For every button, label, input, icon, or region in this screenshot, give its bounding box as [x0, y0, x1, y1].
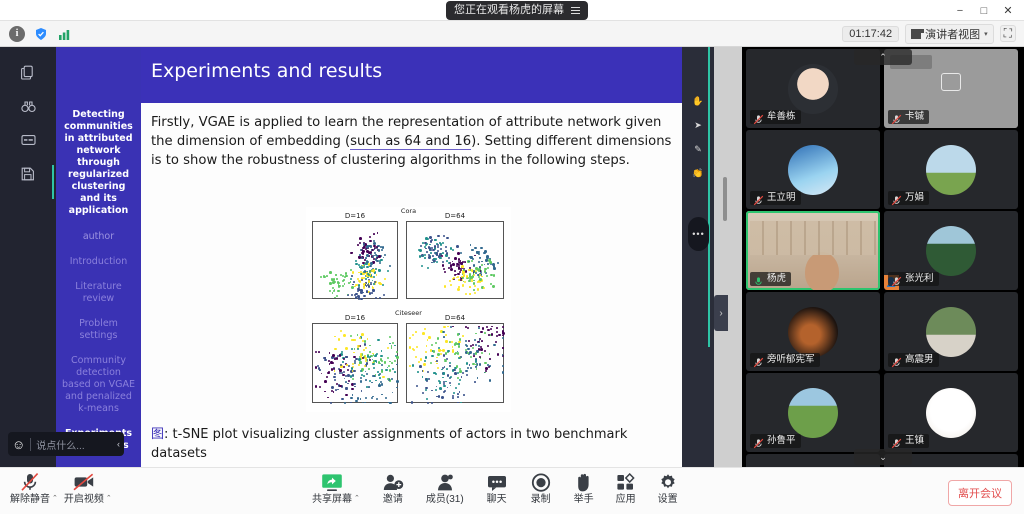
slide-body-underlined: such as 64 and 16: [350, 134, 471, 150]
apps-icon: [616, 473, 636, 492]
bottom-left-controls: 解除静音 ⌃ 开启视频 ⌃: [10, 473, 112, 505]
avatar: [926, 226, 976, 276]
slide-nav-item-literature-review[interactable]: Literature review: [56, 281, 141, 305]
info-icon[interactable]: i: [9, 26, 25, 42]
start-video-button[interactable]: 开启视频: [64, 473, 104, 505]
network-stats-icon[interactable]: [57, 26, 73, 42]
chevron-left-icon[interactable]: ‹: [117, 439, 120, 449]
strip-accent-line: [708, 47, 710, 347]
nameplate: 孙鲁平: [750, 434, 801, 448]
mic-muted-icon: [753, 112, 764, 123]
shared-screen-icon: [941, 73, 961, 91]
record-button[interactable]: 录制: [530, 473, 552, 505]
video-feed: [805, 252, 839, 290]
leave-meeting-button[interactable]: 离开会议: [948, 480, 1012, 506]
avatar: [788, 145, 838, 195]
invite-label: 邀请: [383, 494, 403, 505]
participant-name: 牟善栋: [767, 110, 796, 124]
reaction-strip: ✋ ➤ ✎ 👏 ••• ✋: [682, 47, 714, 467]
avatar: [788, 388, 838, 438]
mic-muted-icon: [891, 436, 902, 447]
video-options-caret[interactable]: ⌃: [106, 494, 112, 505]
unmute-button[interactable]: 解除静音: [10, 473, 50, 505]
audio-options-caret[interactable]: ⌃: [52, 494, 58, 505]
invite-button[interactable]: 邀请: [382, 473, 404, 505]
tsne-figure-canvas: CoraCiteseerD=16D=64D=16D=64: [306, 207, 511, 412]
avatar: [788, 64, 838, 114]
panel-label: D=64: [406, 314, 504, 322]
more-icon[interactable]: •••: [688, 217, 709, 251]
mic-muted-icon: [19, 473, 41, 492]
chat-input-bar[interactable]: ☺ 说点什么... ‹: [8, 432, 124, 456]
caption-text: : t-SNE plot visualizing cluster assignm…: [151, 427, 627, 461]
scrollbar-thumb[interactable]: [723, 177, 727, 221]
nameplate: 王镇: [888, 434, 929, 448]
chat-label: 聊天: [487, 494, 507, 505]
video-muted-icon: [72, 473, 96, 492]
panel-label: D=16: [312, 212, 398, 220]
rail-active-indicator: [52, 165, 54, 199]
participant-name: 王镇: [905, 434, 924, 448]
scatter-panel: [406, 323, 504, 403]
share-screen-button[interactable]: 共享屏幕: [312, 473, 352, 505]
participant-name: 卡铖: [905, 110, 924, 124]
panel-label: D=16: [312, 314, 398, 322]
save-icon[interactable]: [0, 157, 56, 191]
participant-tile[interactable]: 孙鲁平: [746, 373, 880, 452]
participant-name: 旁听郁宪军: [767, 353, 815, 367]
participant-name: 孙鲁平: [767, 434, 796, 448]
scatter-panel: [406, 221, 504, 299]
binoculars-icon[interactable]: [0, 89, 56, 123]
tsne-figure: CoraCiteseerD=16D=64D=16D=64: [306, 207, 511, 412]
hamburger-icon[interactable]: [571, 7, 580, 14]
divider: [30, 438, 31, 451]
annotation-rail: [0, 47, 56, 467]
participant-tile[interactable]: 万娟: [884, 130, 1018, 209]
mic-muted-icon: [753, 436, 764, 447]
participant-tile[interactable]: 高震男: [884, 292, 1018, 371]
participant-tile[interactable]: 王镇: [884, 373, 1018, 452]
video-background: [750, 221, 876, 255]
nameplate: 王立明: [750, 191, 801, 205]
gear-icon: [658, 473, 678, 492]
share-options-caret[interactable]: ⌃: [354, 494, 360, 505]
window-controls: − □ ✕: [948, 0, 1020, 21]
mic-muted-icon: [891, 112, 902, 123]
participant-name: 王立明: [767, 191, 796, 205]
meeting-controls-bar: 解除静音 ⌃ 开启视频 ⌃: [0, 467, 1024, 514]
fullscreen-icon[interactable]: ⛶: [1000, 25, 1016, 42]
stage-scroll-gutter: [714, 47, 742, 467]
nameplate: 万娟: [888, 191, 929, 205]
participant-name: 高震男: [905, 353, 934, 367]
slide-nav-author: author: [56, 231, 141, 243]
start-video-label: 开启视频: [64, 494, 104, 505]
copy-icon[interactable]: [0, 55, 56, 89]
slide-nav: Detecting communities in attributed netw…: [56, 109, 141, 452]
invite-icon: [382, 473, 404, 492]
share-screen-label: 共享屏幕: [312, 494, 352, 505]
meeting-timer: 01:17:42: [842, 26, 899, 42]
participant-tile[interactable]: 旁听郁宪军: [746, 292, 880, 371]
panel-label: D=64: [406, 212, 504, 220]
participant-tile[interactable]: 👤张光利: [884, 211, 1018, 290]
unmute-label: 解除静音: [10, 494, 50, 505]
chat-icon: [486, 473, 508, 492]
nameplate: 牟善栋: [750, 110, 801, 124]
participant-tile[interactable]: 王立明: [746, 130, 880, 209]
slide-nav-item-problem-settings[interactable]: Problem settings: [56, 318, 141, 342]
apps-button[interactable]: 应用: [616, 473, 636, 505]
mic-on-icon: [753, 274, 764, 285]
maximize-button[interactable]: □: [972, 0, 996, 21]
participant-name: 万娟: [905, 191, 924, 205]
minimize-button[interactable]: −: [948, 0, 972, 21]
slide-body-text: Firstly, VGAE is applied to learn the re…: [151, 113, 674, 170]
share-notice-text: 您正在观看杨虎的屏幕: [454, 1, 564, 20]
start-video-group: 开启视频 ⌃: [64, 473, 112, 505]
participants-label: 成员(31): [426, 494, 464, 505]
participant-name: 张光利: [905, 272, 934, 286]
unmute-group: 解除静音 ⌃: [10, 473, 58, 505]
smiley-icon[interactable]: ☺: [12, 437, 25, 452]
slide-title-bar: Experiments and results: [141, 47, 682, 103]
nameplate: 卡铖: [888, 110, 929, 124]
participant-tile[interactable]: 杨虎: [746, 211, 880, 290]
scatter-panel: [312, 323, 398, 403]
chevron-down-icon[interactable]: ▾: [984, 30, 988, 38]
record-icon: [530, 473, 552, 492]
settings-button[interactable]: 设置: [658, 473, 678, 505]
toolbar-left-icons: i: [0, 26, 73, 42]
slide-nav-item-community-detection[interactable]: Community detection based on VGAE and pe…: [56, 355, 141, 415]
participant-grid: 牟善栋卡铖王立明万娟杨虎👤张光利旁听郁宪军高震男孙鲁平王镇⌃⌄: [742, 47, 1024, 467]
nameplate: 高震男: [888, 353, 939, 367]
view-mode-label: 演讲者视图: [925, 26, 980, 42]
raise-hand-button[interactable]: 举手: [574, 473, 594, 505]
scroll-up-button[interactable]: ⌃: [854, 49, 912, 65]
caption-prefix: 图: [151, 427, 164, 442]
zoom-meeting-window: 您正在观看杨虎的屏幕 − □ ✕ i 01:17:42 演讲者视图 ▾: [0, 0, 1024, 514]
speaker-view-icon: [911, 29, 921, 39]
bottom-center-controls: 共享屏幕 ⌃ 邀请 成员(31) 聊天: [312, 473, 678, 505]
avatar: [926, 388, 976, 438]
mic-muted-icon: [753, 193, 764, 204]
scatter-panel: [312, 221, 398, 299]
nameplate: 张光利: [888, 272, 939, 286]
meeting-toolbar: i 01:17:42 演讲者视图 ▾ ⛶: [0, 21, 1024, 47]
security-shield-icon[interactable]: [33, 26, 49, 42]
panel-collapse-handle[interactable]: ›: [714, 295, 728, 331]
view-mode-selector[interactable]: 演讲者视图 ▾: [905, 24, 994, 44]
toolbar-right-group: 01:17:42 演讲者视图 ▾ ⛶: [842, 24, 1024, 44]
apps-label: 应用: [616, 494, 636, 505]
mic-muted-icon: [891, 355, 902, 366]
slide-nav-item-introduction[interactable]: Introduction: [56, 256, 141, 268]
nameplate: 杨虎: [750, 272, 791, 286]
screen-share-notice[interactable]: 您正在观看杨虎的屏幕: [446, 1, 588, 20]
page-title: Experiments and results: [151, 60, 382, 82]
share-screen-icon: [321, 473, 343, 492]
scroll-down-button[interactable]: ⌄: [854, 449, 912, 465]
mic-muted-icon: [753, 355, 764, 366]
chat-button[interactable]: 聊天: [486, 473, 508, 505]
participants-icon: [434, 473, 456, 492]
mic-muted-icon: [891, 193, 902, 204]
participants-button[interactable]: 成员(31): [426, 473, 464, 505]
avatar: [926, 145, 976, 195]
avatar: [926, 307, 976, 357]
slide-nav-title: Detecting communities in attributed netw…: [56, 109, 141, 217]
mic-muted-icon: [891, 274, 902, 285]
title-bar: 您正在观看杨虎的屏幕 − □ ✕: [0, 0, 1024, 21]
participant-name: 杨虎: [767, 272, 786, 286]
nameplate: 旁听郁宪军: [750, 353, 820, 367]
shared-slide[interactable]: Experiments and results Detecting commun…: [56, 47, 682, 467]
raise-hand-icon: [574, 473, 594, 492]
raise-hand-label: 举手: [574, 494, 594, 505]
close-button[interactable]: ✕: [996, 0, 1020, 21]
settings-label: 设置: [658, 494, 678, 505]
record-label: 录制: [531, 494, 551, 505]
avatar: [788, 307, 838, 357]
share-screen-group: 共享屏幕 ⌃: [312, 473, 360, 505]
figure-caption: 图: t-SNE plot visualizing cluster assign…: [151, 425, 672, 463]
chat-input[interactable]: 说点什么...: [36, 437, 112, 452]
subtitle-icon[interactable]: [0, 123, 56, 157]
meeting-stage: Experiments and results Detecting commun…: [0, 47, 1024, 467]
